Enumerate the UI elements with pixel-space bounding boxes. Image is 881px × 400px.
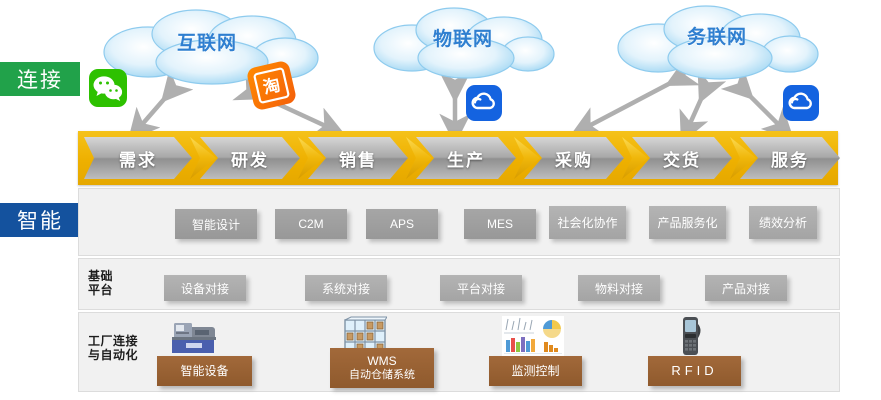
cloud-glyph-icon xyxy=(466,85,502,121)
smart-chip-2[interactable]: C2M xyxy=(275,209,347,239)
factory-layer-title-line1: 工厂连接 xyxy=(88,334,138,348)
band-label-connect: 连接 xyxy=(0,62,80,96)
rfid-handheld-icon xyxy=(675,316,705,358)
wechat-icon[interactable] xyxy=(89,69,127,107)
band-label-smart: 智能 xyxy=(0,203,80,237)
cloud-ios: 务联网 xyxy=(612,2,822,82)
cloud-iot: 物联网 xyxy=(368,4,558,82)
factory-item-1[interactable]: 智能设备 xyxy=(157,356,252,386)
cloud-iot-label: 物联网 xyxy=(368,24,558,51)
smart-chip-6[interactable]: 产品服务化 xyxy=(649,206,726,239)
process-bar: 需求 研发 销售 生产 采购 交货 服务 xyxy=(78,131,838,185)
factory-item-3-label: 监测控制 xyxy=(511,364,559,378)
platform-layer-title-line1: 基础 xyxy=(88,269,113,283)
cloud-ios-label: 务联网 xyxy=(612,22,822,49)
cloud-app-icon-1[interactable] xyxy=(466,85,502,121)
platform-layer-title: 基础 平台 xyxy=(88,269,113,297)
cloud-internet-label: 互联网 xyxy=(92,28,322,55)
process-step-1[interactable]: 需求 xyxy=(84,137,192,179)
smart-chip-4[interactable]: MES xyxy=(464,209,536,239)
platform-chip-1[interactable]: 设备对接 xyxy=(164,275,246,301)
factory-item-4-label: RFID xyxy=(671,364,717,378)
cnc-machine-icon xyxy=(168,317,220,355)
factory-item-2[interactable]: WMS 自动仓储系统 xyxy=(330,348,434,388)
diagram-canvas: 互联网 物联网 xyxy=(0,0,881,400)
factory-item-2-label: WMS xyxy=(367,354,396,368)
wechat-glyph-icon xyxy=(89,69,127,107)
factory-layer-title-line2: 与自动化 xyxy=(88,348,138,362)
smart-chip-5[interactable]: 社会化协作 xyxy=(549,206,626,239)
smart-chip-1[interactable]: 智能设计 xyxy=(175,209,257,239)
analytics-chart-icon xyxy=(502,316,564,356)
cloud-glyph-icon xyxy=(783,85,819,121)
platform-chip-3[interactable]: 平台对接 xyxy=(440,275,522,301)
factory-item-4[interactable]: RFID xyxy=(648,356,741,386)
platform-chip-2[interactable]: 系统对接 xyxy=(305,275,387,301)
smart-chip-7[interactable]: 绩效分析 xyxy=(749,206,817,239)
smart-chip-3[interactable]: APS xyxy=(366,209,438,239)
factory-layer-title: 工厂连接 与自动化 xyxy=(88,334,138,362)
platform-layer-title-line2: 平台 xyxy=(88,283,113,297)
svg-text:淘: 淘 xyxy=(261,74,282,98)
factory-item-3[interactable]: 监测控制 xyxy=(489,356,582,386)
platform-chip-4[interactable]: 物料对接 xyxy=(578,275,660,301)
platform-chip-5[interactable]: 产品对接 xyxy=(705,275,787,301)
cloud-app-icon-2[interactable] xyxy=(783,85,819,121)
factory-item-1-label: 智能设备 xyxy=(180,364,228,378)
factory-item-2-sublabel: 自动仓储系统 xyxy=(349,368,415,382)
